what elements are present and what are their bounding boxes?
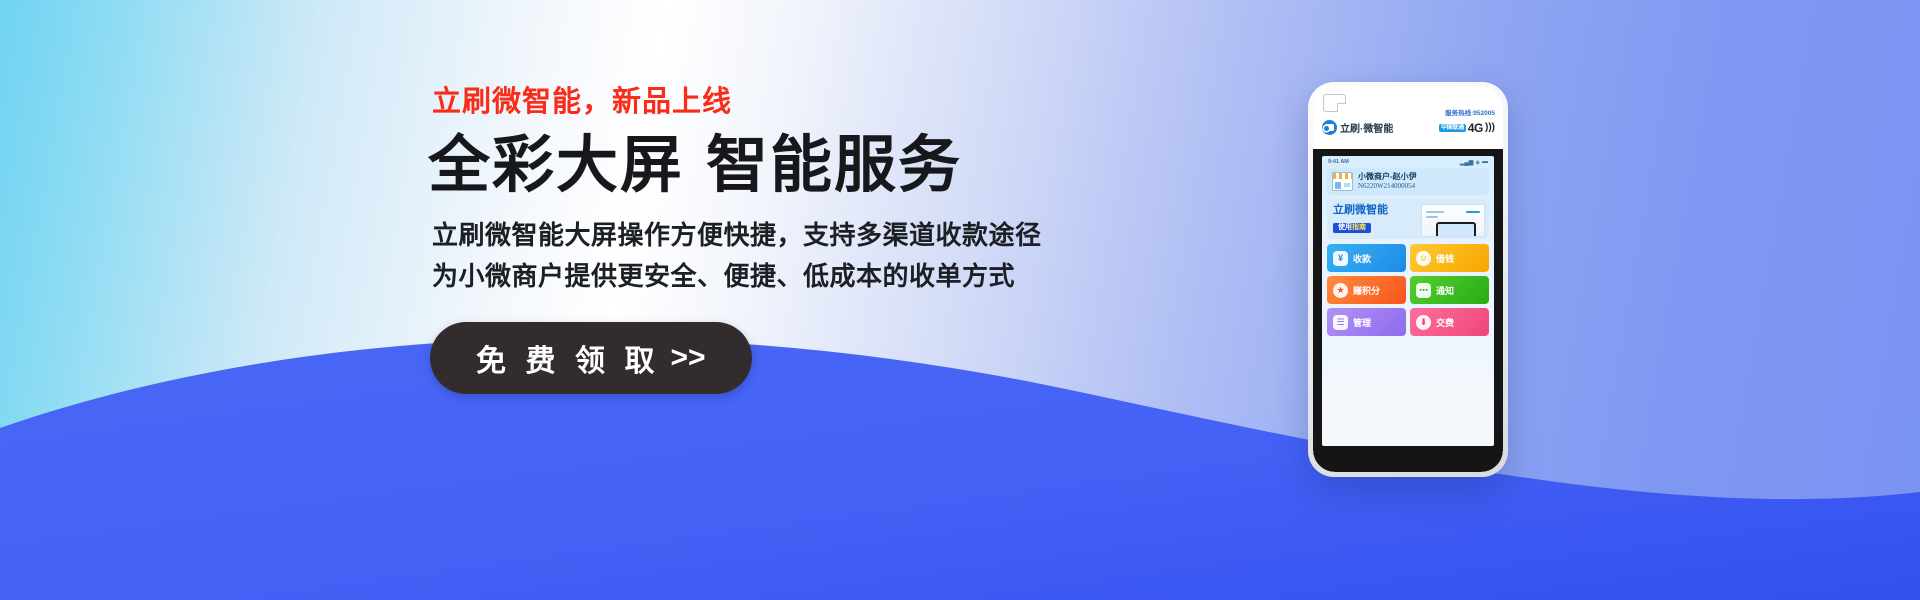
screen-status-bar: 9:41 AM ▂▄▆ ◈ ▬: [1327, 156, 1489, 168]
cta-wrapper: 免 费 领 取>>: [430, 322, 1208, 394]
status-time: 9:41 AM: [1328, 159, 1349, 165]
network-indicator-group: 中国联通 4G ))): [1439, 122, 1495, 134]
tongzhi-icon: ⋯: [1416, 283, 1431, 298]
brand-name-text: 立刷·微智能: [1340, 120, 1393, 135]
pos-terminal-device: 服务热线:952005 立刷·微智能 中国联通 4G ))) HUA: [1308, 82, 1508, 477]
banner-copy-block: 立刷微智能，新品上线 全彩大屏智能服务 立刷微智能大屏操作方便快捷，支持多渠道收…: [428, 88, 1208, 394]
promo-tag-right: 指南: [1352, 224, 1366, 231]
network-type-label: 4G: [1468, 122, 1483, 134]
signal-waves-icon: ))): [1485, 123, 1495, 133]
subtitle-line-1: 立刷微智能大屏操作方便快捷，支持多渠道收款途径: [432, 216, 1208, 255]
device-screen: HUA 9:41 AM ▂▄▆ ◈ ▬: [1322, 156, 1494, 446]
free-claim-button[interactable]: 免 费 领 取>>: [430, 322, 752, 394]
jiaofei-icon: ⬇: [1416, 315, 1431, 330]
device-top-panel: 服务热线:952005 立刷·微智能 中国联通 4G ))): [1313, 87, 1503, 149]
device-brand-row: 立刷·微智能 中国联通 4G ))): [1322, 120, 1495, 135]
app-tile-jiaofei-label: 交费: [1436, 316, 1454, 329]
promo-banner-card[interactable]: 立刷微智能 使用指南: [1327, 199, 1489, 239]
app-tile-guanli-label: 管理: [1353, 316, 1371, 329]
shoukuan-icon: ¥: [1333, 251, 1348, 266]
app-tile-jiaofei[interactable]: ⬇交费: [1410, 308, 1489, 336]
promo-tag-badge: 使用指南: [1333, 223, 1371, 233]
app-tile-shoukuan[interactable]: ¥收款: [1327, 244, 1406, 272]
app-tile-tongzhi-label: 通知: [1436, 284, 1454, 297]
app-tile-guanli[interactable]: ☰管理: [1327, 308, 1406, 336]
merchant-id: N6220W214000054: [1358, 182, 1417, 191]
headline-part-1: 全彩大屏: [428, 131, 684, 200]
cellular-signal-icon: ▂▄▆: [1460, 159, 1473, 166]
battery-icon: ▬: [1482, 159, 1488, 165]
app-tile-zhuanjifen-label: 赚积分: [1353, 284, 1380, 297]
jieqian-icon: ☺: [1416, 251, 1431, 266]
merchant-name: 小微商户-赵小伊: [1358, 172, 1417, 182]
merchant-info-card[interactable]: 小微商户-赵小伊 N6220W214000054: [1327, 168, 1489, 195]
headline-part-2: 智能服务: [706, 131, 962, 200]
app-tile-zhuanjifen[interactable]: ★赚积分: [1327, 276, 1406, 304]
device-body: 服务热线:952005 立刷·微智能 中国联通 4G ))) HUA: [1313, 87, 1503, 472]
promo-thumbnail-image: [1421, 204, 1485, 237]
app-tile-jieqian[interactable]: ☺借钱: [1410, 244, 1489, 272]
subtitle-line-2: 为小微商户提供更安全、便捷、低成本的收单方式: [432, 257, 1208, 296]
status-indicators: ▂▄▆ ◈ ▬: [1460, 159, 1488, 166]
app-tile-tongzhi[interactable]: ⋯通知: [1410, 276, 1489, 304]
eyebrow-text: 立刷微智能，新品上线: [432, 88, 1208, 117]
double-chevron-right-icon: >>: [671, 341, 706, 375]
app-tile-jieqian-label: 借钱: [1436, 252, 1454, 265]
carrier-chip-label: 中国联通: [1439, 124, 1466, 132]
promo-banner: 立刷微智能，新品上线 全彩大屏智能服务 立刷微智能大屏操作方便快捷，支持多渠道收…: [0, 0, 1920, 600]
wifi-icon: ◈: [1475, 159, 1480, 166]
merchant-text-group: 小微商户-赵小伊 N6220W214000054: [1358, 172, 1417, 191]
zhuanjifen-icon: ★: [1333, 283, 1348, 298]
page-title: 全彩大屏智能服务: [428, 133, 1208, 200]
app-tile-shoukuan-label: 收款: [1353, 252, 1371, 265]
device-screen-bezel: HUA 9:41 AM ▂▄▆ ◈ ▬: [1313, 149, 1503, 472]
lishua-logo-icon: [1322, 120, 1337, 135]
promo-tag-left: 使用: [1338, 224, 1352, 231]
app-grid: ¥收款☺借钱★赚积分⋯通知☰管理⬇交费: [1327, 244, 1489, 336]
storefront-icon: [1332, 172, 1353, 191]
service-hotline-text: 服务热线:952005: [1445, 107, 1495, 117]
printer-slot-icon: [1323, 94, 1346, 112]
brand-lockup: 立刷·微智能: [1322, 120, 1393, 135]
guanli-icon: ☰: [1333, 315, 1348, 330]
cta-label: 免 费 领 取: [476, 336, 661, 380]
